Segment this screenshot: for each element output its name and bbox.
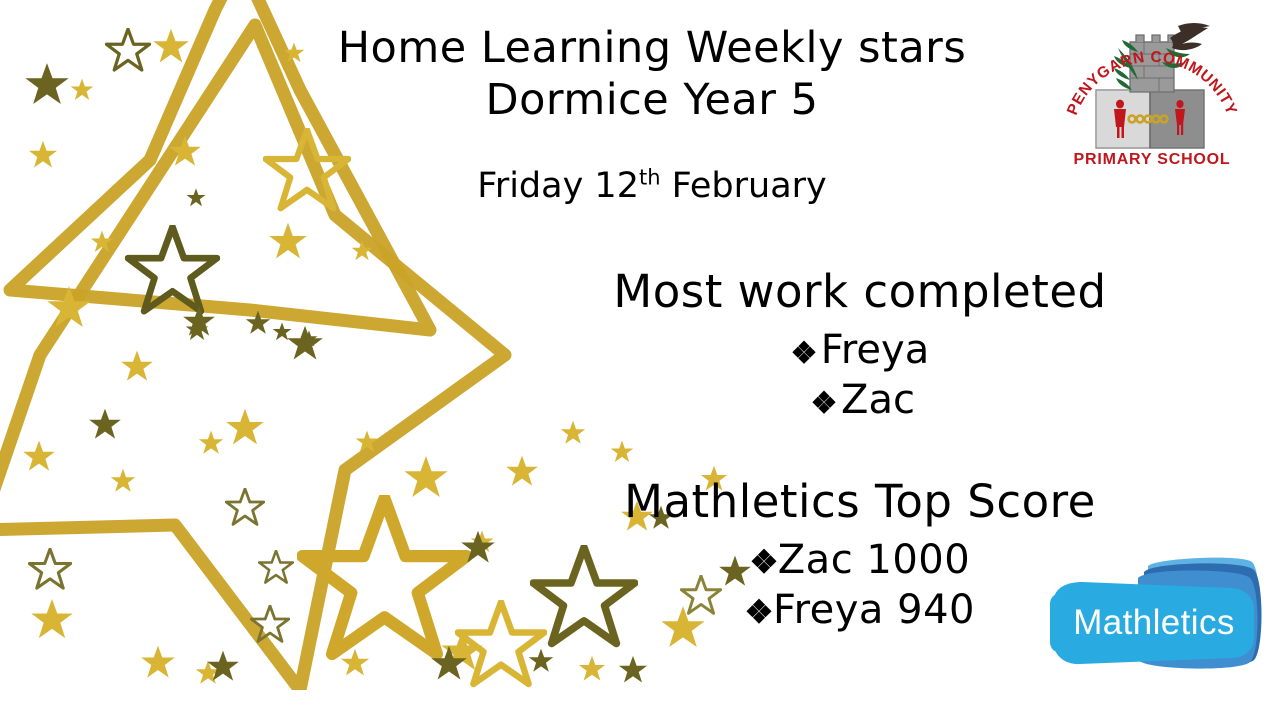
diamond-cluster-bullet-icon xyxy=(791,339,817,365)
list-item: Zac 1000 xyxy=(550,535,1170,585)
diamond-cluster-bullet-icon xyxy=(745,597,773,625)
most-work-list: Freya Zac xyxy=(550,325,1170,425)
school-logo-bottom-text: PRIMARY SCHOOL xyxy=(1074,151,1231,168)
date-prefix: Friday 12 xyxy=(477,166,639,206)
date-line: Friday 12th February xyxy=(262,165,1042,207)
page-title-line-2: Dormice Year 5 xyxy=(262,74,1042,126)
date-suffix: February xyxy=(661,166,827,206)
school-logo: PENYGARN COMMUNITY PRIMARY SCHOOL xyxy=(1062,12,1242,172)
section-mathletics-top-score: Mathletics Top Score Zac 1000 Freya 940 xyxy=(550,475,1170,635)
slide-canvas: PENYGARN COMMUNITY PRIMARY SCHOOL Mathle… xyxy=(0,0,1280,720)
date-superscript: th xyxy=(639,165,661,189)
mathletics-list: Zac 1000 Freya 940 xyxy=(550,535,1170,635)
section-heading-most-work: Most work completed xyxy=(550,265,1170,319)
list-item: Freya xyxy=(550,325,1170,375)
list-item-label: Zac 1000 xyxy=(778,537,970,583)
page-title-line-1: Home Learning Weekly stars xyxy=(262,22,1042,74)
section-heading-mathletics: Mathletics Top Score xyxy=(550,475,1170,529)
list-item: Zac xyxy=(550,375,1170,425)
diamond-cluster-bullet-icon xyxy=(811,389,837,415)
title-block: Home Learning Weekly stars Dormice Year … xyxy=(262,22,1042,126)
list-item-label: Freya 940 xyxy=(773,587,975,633)
list-item-label: Zac xyxy=(841,377,915,423)
list-item-label: Freya xyxy=(821,327,929,373)
section-most-work-completed: Most work completed Freya Zac xyxy=(550,265,1170,425)
diamond-cluster-bullet-icon xyxy=(750,547,778,575)
list-item: Freya 940 xyxy=(550,585,1170,635)
